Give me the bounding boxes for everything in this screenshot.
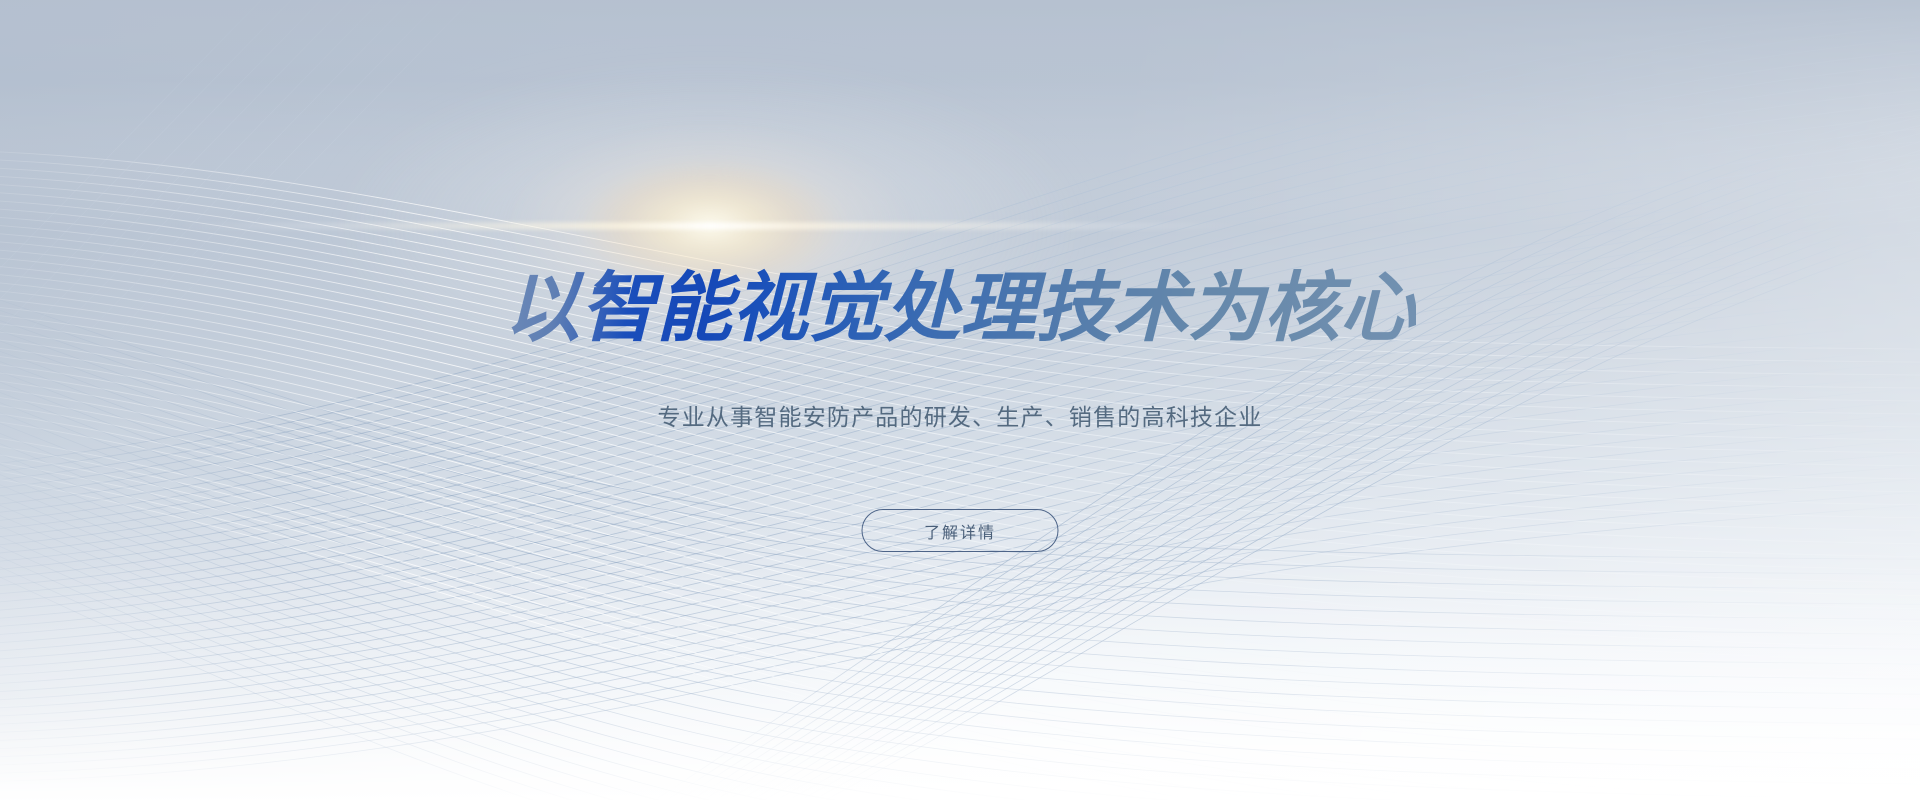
learn-more-button[interactable]: 了解详情 — [862, 509, 1059, 552]
hero-subtitle: 专业从事智能安防产品的研发、生产、销售的高科技企业 — [658, 401, 1263, 433]
hero-banner: 以智能视觉处理技术为核心 专业从事智能安防产品的研发、生产、销售的高科技企业 了… — [0, 0, 1920, 800]
background-wash — [0, 0, 1920, 800]
hero-content: 以智能视觉处理技术为核心 专业从事智能安防产品的研发、生产、销售的高科技企业 了… — [0, 0, 1920, 800]
lens-flare-streak-icon — [170, 223, 1250, 230]
page-title: 以智能视觉处理技术为核心 — [504, 266, 1416, 350]
wave-mesh-icon — [0, 0, 1920, 800]
